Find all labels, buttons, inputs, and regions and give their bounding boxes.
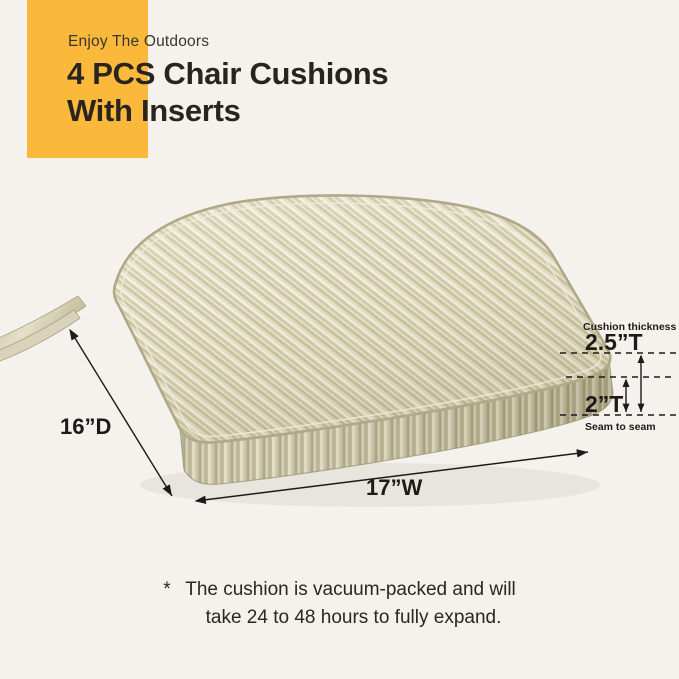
product-infographic: Enjoy The Outdoors 4 PCS Chair Cushions …: [0, 0, 679, 679]
product-note: *The cushion is vacuum-packed and will t…: [0, 576, 679, 632]
seam-to-seam-caption: Seam to seam: [585, 421, 656, 433]
note-asterisk: *: [163, 576, 185, 604]
depth-dimension-label: 16”D: [60, 414, 111, 440]
note-line-2: take 24 to 48 hours to fully expand.: [0, 604, 679, 632]
depth-dimension-arrow: [70, 330, 172, 496]
note-line-1: The cushion is vacuum-packed and will: [185, 579, 516, 600]
seam-thickness-label: 2”T: [585, 391, 623, 418]
width-dimension-label: 17”W: [366, 475, 422, 501]
total-thickness-label: 2.5”T: [585, 329, 643, 356]
